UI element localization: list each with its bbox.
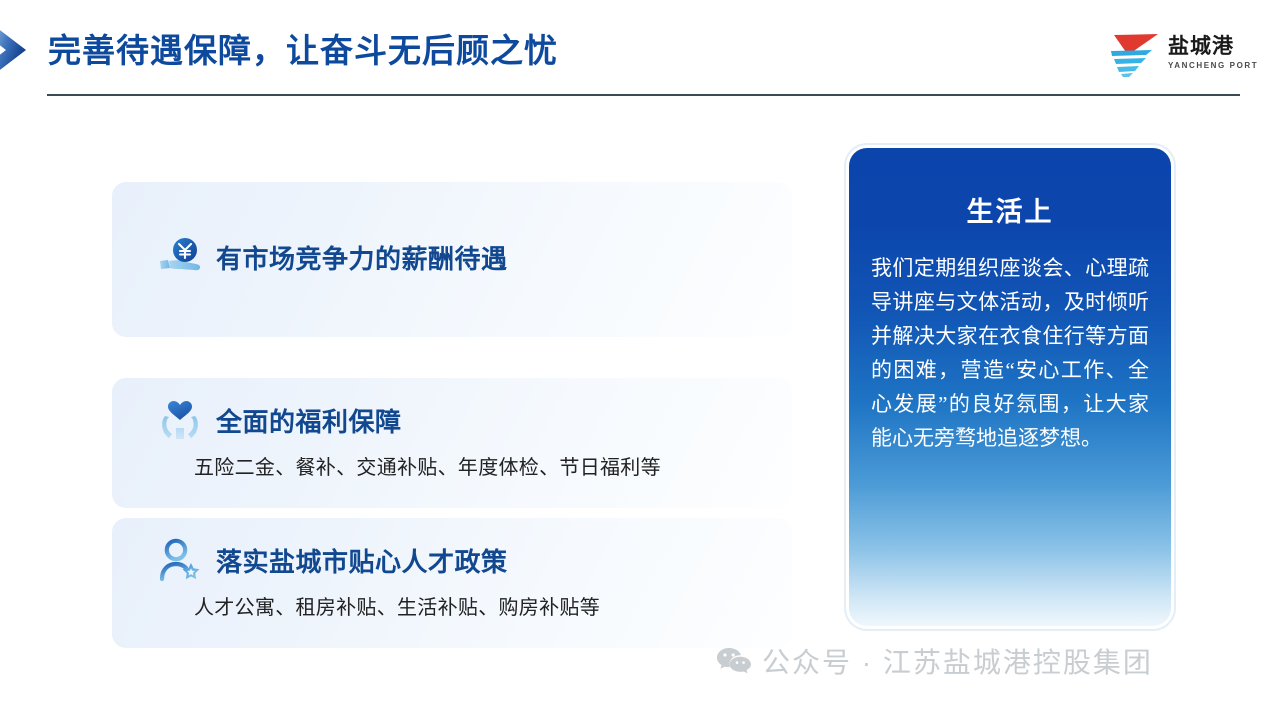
benefit-title: 落实盐城市贴心人才政策 — [216, 542, 508, 579]
benefit-title: 全面的福利保障 — [216, 402, 402, 439]
life-panel-body: 我们定期组织座谈会、心理疏导讲座与文体活动，及时倾听并解决大家在衣食住行等方面的… — [871, 251, 1149, 455]
benefit-desc: 五险二金、餐补、交通补贴、年度体检、节日福利等 — [194, 451, 792, 480]
hand-holding-yuan-coin-icon — [158, 235, 202, 279]
benefit-card-header: 有市场竞争力的薪酬待遇 — [112, 182, 792, 279]
page-title: 完善待遇保障，让奋斗无后顾之忧 — [48, 24, 558, 72]
benefit-card-header: 全面的福利保障 — [112, 378, 792, 442]
chevron-right-icon — [0, 19, 44, 81]
person-star-badge-icon — [158, 538, 202, 582]
sail-wave-logo-icon — [1108, 31, 1162, 77]
benefit-card: 落实盐城市贴心人才政策 人才公寓、租房补贴、生活补贴、购房补贴等 — [112, 518, 792, 648]
brand-text: 盐城港 YANCHENG PORT — [1168, 36, 1258, 71]
header-divider — [47, 94, 1240, 96]
heart-in-hands-icon — [158, 398, 202, 442]
benefit-title: 有市场竞争力的薪酬待遇 — [216, 239, 508, 276]
brand-name-cn: 盐城港 — [1168, 36, 1258, 58]
benefit-card: 有市场竞争力的薪酬待遇 — [112, 182, 792, 337]
slide-header: 完善待遇保障，让奋斗无后顾之忧 — [0, 0, 1280, 100]
wechat-watermark: 公众号 · 江苏盐城港控股集团 — [716, 641, 1153, 681]
brand-name-en: YANCHENG PORT — [1168, 60, 1258, 71]
life-panel: 生活上 我们定期组织座谈会、心理疏导讲座与文体活动，及时倾听并解决大家在衣食住行… — [849, 148, 1171, 626]
life-panel-title: 生活上 — [871, 190, 1149, 229]
benefit-desc: 人才公寓、租房补贴、生活补贴、购房补贴等 — [194, 591, 792, 620]
wechat-icon — [716, 646, 752, 676]
benefit-card-header: 落实盐城市贴心人才政策 — [112, 518, 792, 582]
watermark-text: 公众号 · 江苏盐城港控股集团 — [762, 641, 1153, 681]
benefit-card-list: 有市场竞争力的薪酬待遇 — [112, 182, 792, 648]
benefit-card: 全面的福利保障 五险二金、餐补、交通补贴、年度体检、节日福利等 — [112, 378, 792, 508]
brand-logo: 盐城港 YANCHENG PORT — [1108, 28, 1248, 80]
